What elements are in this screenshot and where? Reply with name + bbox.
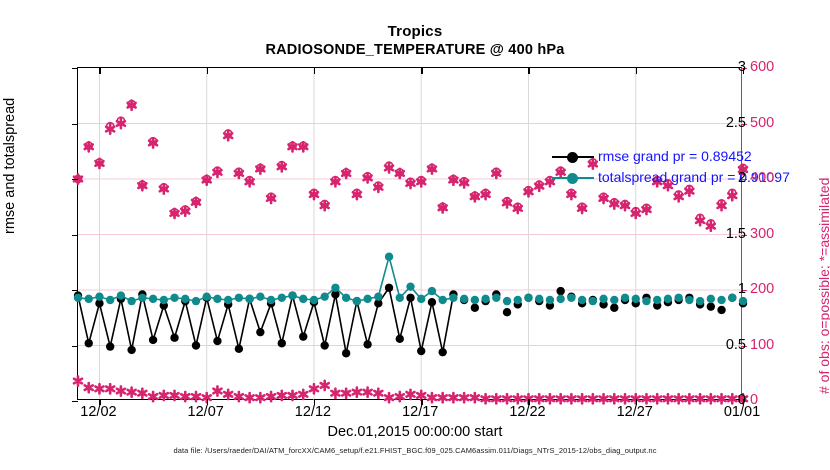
legend-entry-rmse: rmse grand pr = 0.89452 <box>550 146 820 167</box>
y-tick-label-left: 1 <box>738 281 746 297</box>
y-tick-label-left: 2.5 <box>726 115 746 131</box>
title-region: Tropics <box>0 22 830 41</box>
x-tick-label: 12/22 <box>509 404 545 420</box>
y-tick-label-right: 600 <box>750 59 774 75</box>
x-axis-title: Dec.01,2015 00:00:00 start <box>0 424 830 440</box>
y-tick-left <box>72 68 78 69</box>
x-tick-label: 01/01 <box>724 404 760 420</box>
y-tick-left <box>72 346 78 347</box>
y-axis-left-title: rmse and totalspread <box>2 98 18 234</box>
y-axis-right-title: # of obs: o=possible; *=assimilated <box>816 178 830 394</box>
y-tick-left <box>72 179 78 180</box>
legend-label-rmse: rmse grand pr = 0.89452 <box>598 146 752 167</box>
x-tick-label: 12/07 <box>188 404 224 420</box>
x-tick <box>314 68 315 74</box>
data-file-footer: data file: /Users/raeder/DAI/ATM_forcXX/… <box>0 446 830 455</box>
legend-marker-totalspread <box>567 173 578 184</box>
y-tick-left <box>72 401 78 402</box>
y-tick-left <box>72 290 78 291</box>
x-tick-label: 12/12 <box>295 404 331 420</box>
y-tick-label-right: 500 <box>750 115 774 131</box>
x-tick-label: 12/17 <box>402 404 438 420</box>
x-tick-label: 12/02 <box>80 404 116 420</box>
y-tick-label-left: 3 <box>738 59 746 75</box>
y-tick-label-right: 100 <box>750 337 774 353</box>
y-tick-label-left: 1.5 <box>726 226 746 242</box>
plot-area: rmse grand pr = 0.89452 totalspread gran… <box>77 67 742 400</box>
series-rejected-obs <box>74 376 747 403</box>
y-tick-label-right: 400 <box>750 170 774 186</box>
chart-page: Tropics RADIOSONDE_TEMPERATURE @ 400 hPa… <box>0 0 830 470</box>
x-tick <box>207 68 208 74</box>
x-tick-label: 12/27 <box>617 404 653 420</box>
y-tick-left <box>72 235 78 236</box>
x-tick <box>636 68 637 74</box>
x-tick <box>99 68 100 74</box>
x-tick <box>421 68 422 74</box>
y-tick-left <box>72 124 78 125</box>
y-tick-label-left: 0.5 <box>726 337 746 353</box>
y-tick-label-right: 200 <box>750 281 774 297</box>
y-tick-label-right: 300 <box>750 226 774 242</box>
chart-title: Tropics RADIOSONDE_TEMPERATURE @ 400 hPa <box>0 22 830 60</box>
legend-marker-rmse <box>567 152 578 163</box>
data-series-layer <box>78 68 743 401</box>
x-tick <box>528 68 529 74</box>
legend: rmse grand pr = 0.89452 totalspread gran… <box>550 146 820 188</box>
y-tick-label-left: 2 <box>738 170 746 186</box>
title-variable: RADIOSONDE_TEMPERATURE @ 400 hPa <box>0 41 830 60</box>
legend-entry-totalspread: totalspread grand pr = 0.91097 <box>550 167 820 188</box>
